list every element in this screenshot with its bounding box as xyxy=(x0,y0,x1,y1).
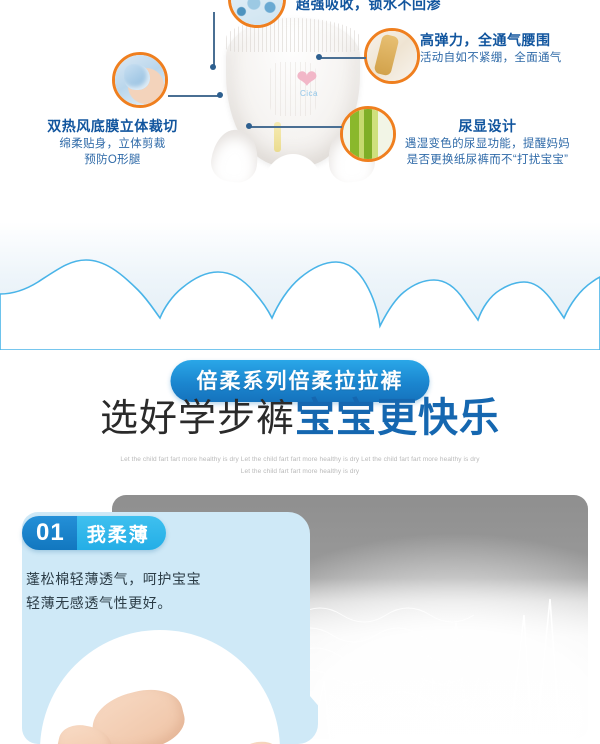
point-01-description: 蓬松棉轻薄透气，呵护宝宝 轻薄无感透气性更好。 xyxy=(26,568,276,616)
connector-dot-left xyxy=(217,92,223,98)
scallop-wave-shape xyxy=(0,222,600,350)
callout-bottom-film-desc-1: 绵柔贴身，立体剪裁 xyxy=(10,136,215,153)
english-subtitle: Let the child fart fart more healthy is … xyxy=(0,454,600,478)
waistband-stretch-icon xyxy=(364,28,420,84)
callout-top: 超强吸收，锁水不回渗 xyxy=(296,0,441,14)
point-01-desc-line-2: 轻薄无感透气性更好。 xyxy=(26,592,276,616)
scallop-divider-section xyxy=(0,222,600,350)
point-01-desc-line-1: 蓬松棉轻薄透气，呵护宝宝 xyxy=(26,568,276,592)
callout-waistband: 高弹力，全通气腰围 活动自如不紧绷，全面通气 xyxy=(420,32,562,66)
series-name-label: 倍柔系列倍柔拉拉裤 xyxy=(197,370,404,393)
english-subtitle-line-2: Let the child fart fart more healthy is … xyxy=(0,466,600,478)
english-subtitle-line-1: Let the child fart fart more healthy is … xyxy=(0,454,600,466)
connector-line-right xyxy=(320,57,366,59)
callout-bottom-film: 双热风底膜立体裁切 绵柔贴身，立体剪裁 预防O形腿 xyxy=(10,118,215,169)
point-01-section: 01 我柔薄 蓬松棉轻薄透气，呵护宝宝 轻薄无感透气性更好。 xyxy=(0,490,600,744)
feature-callouts-section: ❤ Cica 超强吸收，锁水不回渗 高弹力，全通气腰围 活动自如不紧绷，全面通气 xyxy=(0,0,600,222)
hand-soft-film-icon xyxy=(112,52,168,108)
brand-mark-label: Cica xyxy=(300,90,318,98)
callout-wetness-desc-1: 遇湿变色的尿显功能，提醒妈妈 xyxy=(380,136,595,153)
headline-section: 倍柔系列倍柔拉拉裤 选好学步裤宝宝更快乐 Let the child fart … xyxy=(0,350,600,490)
connector-dot-right xyxy=(316,54,322,60)
callout-bottom-film-title: 双热风底膜立体裁切 xyxy=(10,118,215,136)
connector-line-top xyxy=(213,12,215,66)
product-detail-page: ❤ Cica 超强吸收，锁水不回渗 高弹力，全通气腰围 活动自如不紧绷，全面通气 xyxy=(0,0,600,744)
connector-dot-bottom xyxy=(246,123,252,129)
connector-dot-top xyxy=(210,64,216,70)
callout-waistband-title: 高弹力，全通气腰围 xyxy=(420,32,562,50)
main-headline: 选好学步裤宝宝更快乐 xyxy=(0,398,600,438)
callout-wetness: 尿显设计 遇湿变色的尿显功能，提醒妈妈 是否更换纸尿裤而不“打扰宝宝” xyxy=(380,118,595,169)
point-01-badge: 01 我柔薄 xyxy=(22,516,166,550)
point-01-number: 01 xyxy=(22,516,77,550)
product-illustration: ❤ Cica xyxy=(218,18,368,178)
connector-line-left xyxy=(168,95,220,97)
callout-top-title: 超强吸收，锁水不回渗 xyxy=(296,0,441,14)
callout-wetness-desc-2: 是否更换纸尿裤而不“打扰宝宝” xyxy=(380,152,595,169)
connector-line-bottom xyxy=(250,126,342,128)
callout-wetness-title: 尿显设计 xyxy=(380,118,595,136)
point-01-label: 我柔薄 xyxy=(77,516,166,550)
baby-foot-right xyxy=(233,738,280,744)
callout-bottom-film-desc-2: 预防O形腿 xyxy=(10,152,215,169)
heart-logo-icon: ❤ Cica xyxy=(296,66,334,100)
callout-waistband-desc: 活动自如不紧绷，全面通气 xyxy=(420,50,562,67)
main-headline-thin: 选好学步裤 xyxy=(100,398,295,440)
main-headline-bold: 宝宝更快乐 xyxy=(295,396,500,440)
